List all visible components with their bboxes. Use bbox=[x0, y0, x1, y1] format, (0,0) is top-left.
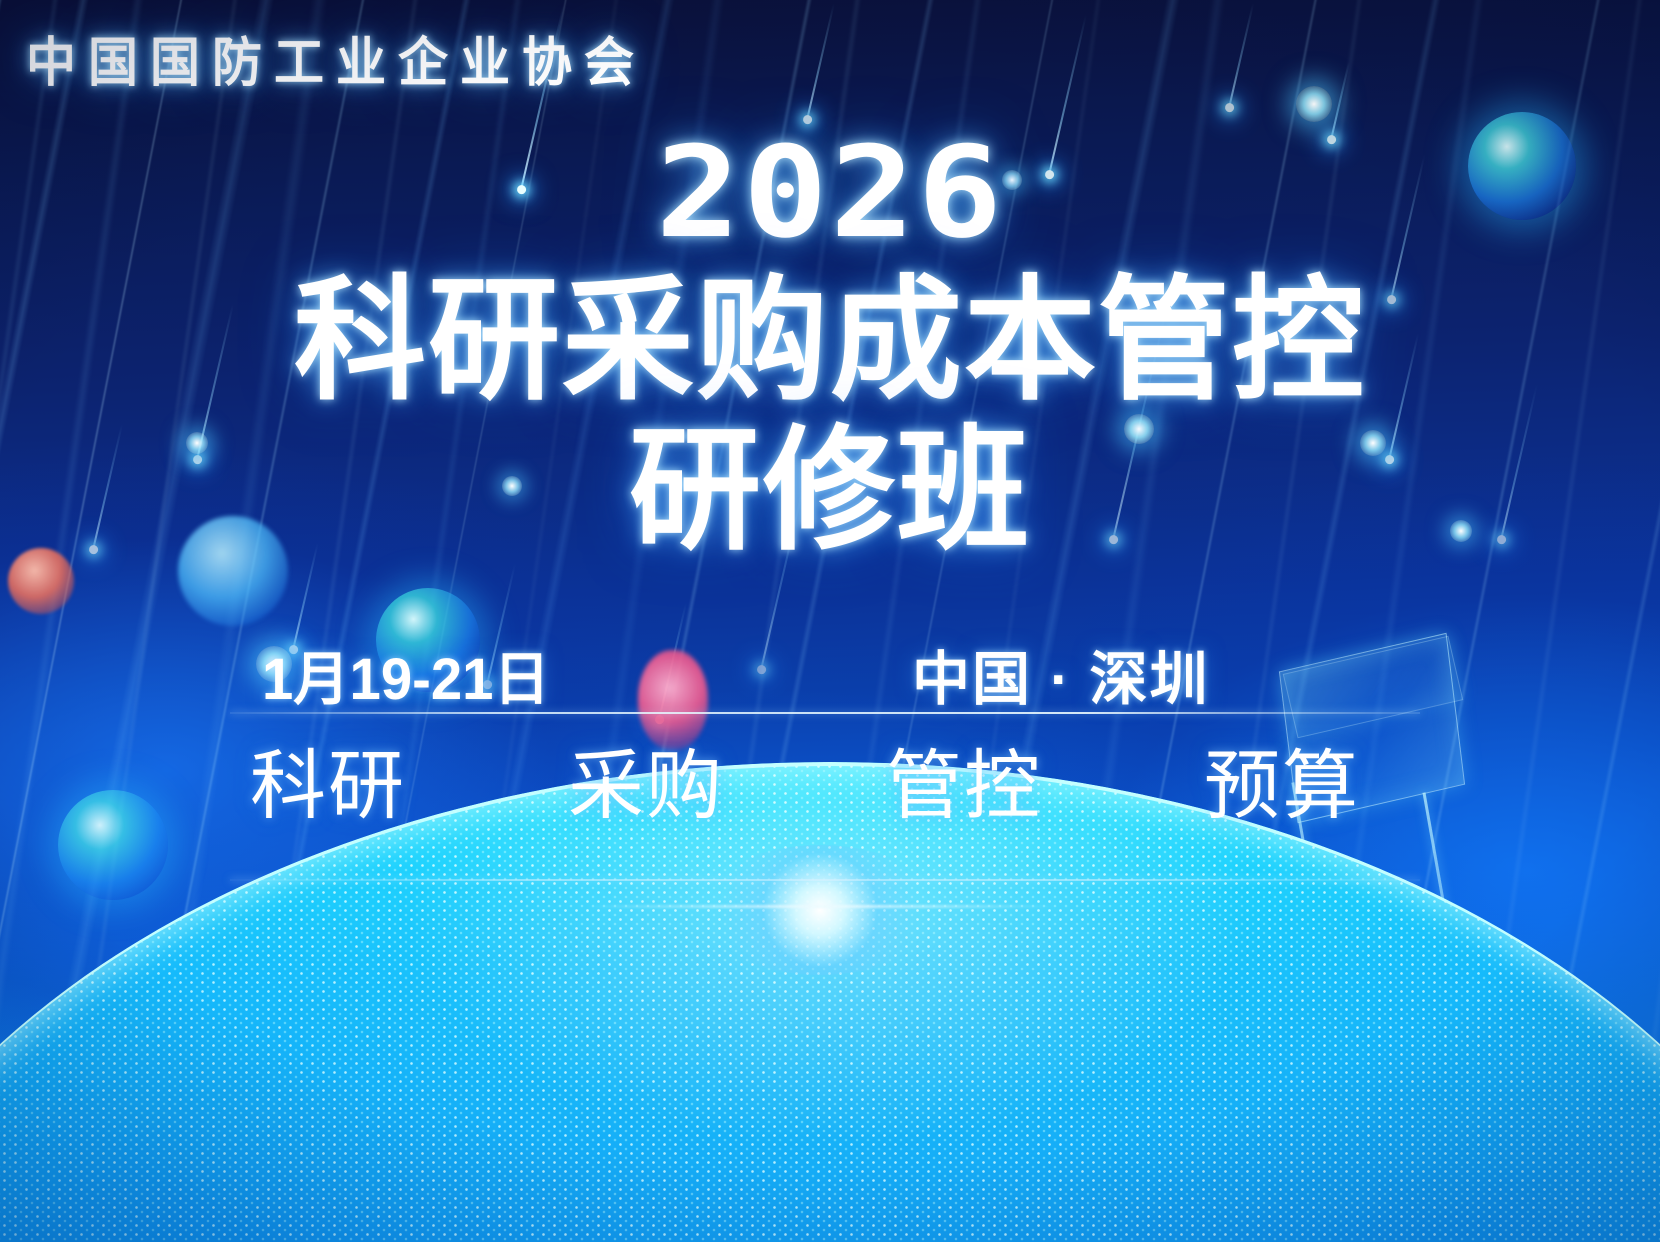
particle-trail-icon bbox=[806, 3, 835, 120]
event-title-line2: 研修班 bbox=[0, 424, 1660, 559]
particle-trail-icon bbox=[1010, 844, 1048, 1000]
keyword-row: 科研 采购 管控 预算 bbox=[250, 742, 1360, 832]
event-location: 中国 · 深圳 bbox=[912, 648, 1210, 712]
divider-bottom bbox=[230, 879, 1420, 881]
digital-globe-graphic bbox=[0, 762, 1660, 1242]
particle-trail-icon bbox=[1228, 3, 1254, 109]
keyword-item: 预算 bbox=[1204, 742, 1360, 832]
event-year: 2026 bbox=[0, 130, 1660, 256]
bokeh-orb-icon bbox=[1296, 86, 1332, 122]
globe-surface bbox=[0, 762, 1660, 1242]
divider-top bbox=[230, 712, 1420, 714]
bokeh-orb-icon bbox=[1022, 998, 1056, 1042]
particle-trail-icon bbox=[786, 883, 815, 1000]
organization-name: 中国国防工业企业协会 bbox=[26, 20, 646, 96]
poster-canvas: 中国国防工业企业协会 2026 科研采购成本管控 研修班 1月19-21日 中国… bbox=[0, 0, 1660, 1242]
event-date: 1月19-21日 bbox=[262, 648, 550, 712]
globe-dot-grid bbox=[0, 762, 1660, 1242]
lens-flare-streak bbox=[586, 905, 1056, 908]
keyword-item: 管控 bbox=[886, 742, 1042, 832]
globe-rim-glow bbox=[0, 762, 1660, 1242]
glass-strut-decor bbox=[1423, 792, 1485, 1127]
event-meta-row: 1月19-21日 中国 · 深圳 bbox=[262, 648, 1382, 712]
particle-trail-icon bbox=[1330, 62, 1350, 140]
glass-sphere-icon bbox=[58, 790, 168, 900]
particle-trail-icon bbox=[292, 543, 319, 651]
keyword-item: 科研 bbox=[250, 742, 406, 832]
event-title-line1: 科研采购成本管控 bbox=[0, 274, 1660, 409]
bokeh-orb-icon bbox=[1152, 890, 1172, 916]
bokeh-orb-icon bbox=[720, 928, 746, 954]
lens-flare-icon bbox=[700, 845, 940, 975]
keyword-item: 采购 bbox=[568, 742, 724, 832]
